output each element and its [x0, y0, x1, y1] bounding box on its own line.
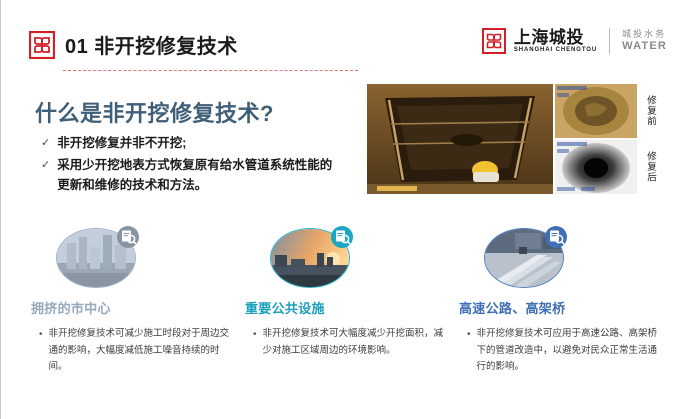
- pipe-interior-after-repair-photo: [555, 140, 637, 194]
- feature-body: • 非开挖修复技术可大幅度减少开挖面积，减少对施工区域周边的环境影响。: [245, 326, 451, 359]
- window-grid-mark-icon: [29, 31, 55, 59]
- document-search-icon: [545, 226, 567, 248]
- check-icon: ✓: [41, 156, 50, 195]
- caption-before-repair: 修复前: [641, 84, 659, 138]
- feature-figure: [484, 228, 564, 288]
- lead-bullet-text: 非开挖修复并非不开挖;: [57, 134, 186, 153]
- photo-montage: [367, 84, 637, 194]
- bullet-dot: •: [467, 326, 471, 376]
- feature-figure: [270, 228, 350, 288]
- pipe-interior-before-repair-photo: [555, 84, 637, 138]
- brand-sub-cn: 城投水务: [622, 29, 667, 41]
- bullet-dot: •: [253, 326, 257, 359]
- excavation-pit-photo: [367, 84, 553, 194]
- feature-body: • 非开挖修复技术可应用于高速公路、高架桥下的管道改造中，以避免对民众正常生活通…: [459, 326, 665, 376]
- lead-bullet-item: ✓ 非开挖修复并非不开挖;: [41, 134, 341, 153]
- section-title: 01 非开挖修复技术: [65, 30, 238, 59]
- brand-name-block: 上海城投 SHANGHAI CHENGTOU: [514, 29, 597, 54]
- feature-column-crowded-city-center: 拥挤的市中心 • 非开挖修复技术可减少施工时段对于周边交通的影响，大幅度减低施工…: [31, 228, 237, 376]
- feature-text: 非开挖修复技术可应用于高速公路、高架桥下的管道改造中，以避免对民众正常生活通行的…: [477, 326, 665, 376]
- slide-canvas: 01 非开挖修复技术 上海城投 SHANGHAI CHENGTOU 城投水务 W…: [0, 0, 677, 419]
- brand-name-en: SHANGHAI CHENGTOU: [514, 47, 597, 53]
- chengtou-window-mark-icon: [482, 28, 506, 54]
- feature-title: 重要公共设施: [245, 298, 451, 317]
- brand-sub-en: WATER: [622, 40, 667, 53]
- bullet-dot: •: [39, 326, 43, 376]
- feature-title: 拥挤的市中心: [31, 298, 237, 317]
- headline: 什么是非开挖修复技术?: [35, 96, 274, 128]
- brand-divider: [609, 28, 610, 54]
- feature-column-public-facility: 重要公共设施 • 非开挖修复技术可大幅度减少开挖面积，减少对施工区域周边的环境影…: [245, 228, 451, 376]
- lead-bullet-text: 采用少开挖地表方式恢复原有给水管道系统性能的更新和维修的技术和方法。: [57, 156, 341, 195]
- document-search-icon: [117, 226, 139, 248]
- lead-bullet-list: ✓ 非开挖修复并非不开挖; ✓ 采用少开挖地表方式恢复原有给水管道系统性能的更新…: [41, 134, 341, 198]
- check-icon: ✓: [41, 134, 50, 153]
- brand-name-cn: 上海城投: [514, 29, 597, 47]
- lead-bullet-item: ✓ 采用少开挖地表方式恢复原有给水管道系统性能的更新和维修的技术和方法。: [41, 156, 341, 195]
- caption-after-repair: 修复后: [641, 140, 659, 194]
- brand-logo: 上海城投 SHANGHAI CHENGTOU 城投水务 WATER: [482, 28, 667, 54]
- feature-column-highway-overpass: 高速公路、高架桥 • 非开挖修复技术可应用于高速公路、高架桥下的管道改造中，以避…: [459, 228, 665, 376]
- title-divider-rule: [63, 70, 358, 71]
- feature-figure: [56, 228, 136, 288]
- document-search-icon: [331, 226, 353, 248]
- photo-side-column: [555, 84, 637, 194]
- feature-body: • 非开挖修复技术可减少施工时段对于周边交通的影响，大幅度减低施工噪音持续的时间…: [31, 326, 237, 376]
- feature-title: 高速公路、高架桥: [459, 298, 665, 317]
- photo-caption-column: 修复前 修复后: [641, 84, 659, 194]
- feature-text: 非开挖修复技术可减少施工时段对于周边交通的影响，大幅度减低施工噪音持续的时间。: [49, 326, 237, 376]
- feature-columns: 拥挤的市中心 • 非开挖修复技术可减少施工时段对于周边交通的影响，大幅度减低施工…: [31, 228, 667, 376]
- slide-header: 01 非开挖修复技术: [29, 30, 238, 59]
- brand-sub-block: 城投水务 WATER: [622, 29, 667, 54]
- feature-text: 非开挖修复技术可大幅度减少开挖面积，减少对施工区域周边的环境影响。: [263, 326, 451, 359]
